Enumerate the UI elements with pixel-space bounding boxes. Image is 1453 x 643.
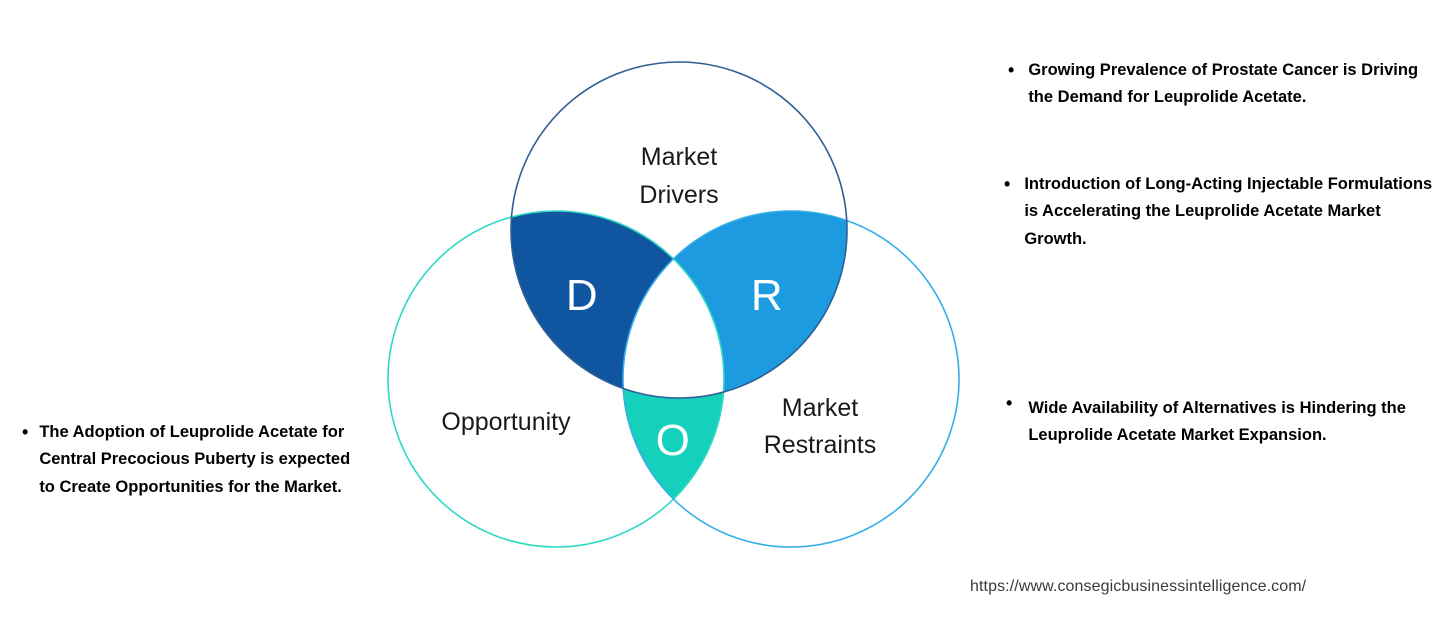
bullet-driver-2-text: Introduction of Long-Acting Injectable F… [1024,171,1434,253]
bullet-driver-2: • Introduction of Long-Acting Injectable… [1004,171,1434,253]
label-market-restraints-line2: Restraints [764,431,877,459]
bullet-opportunity-text: The Adoption of Leuprolide Acetate for C… [39,419,362,501]
bullet-marker-icon: • [1004,171,1010,199]
lens-letter-o: O [656,416,691,465]
bullet-driver-1: • Growing Prevalence of Prostate Cancer … [1008,57,1428,112]
bullet-marker-icon: • [22,419,28,447]
source-url[interactable]: https://www.consegicbusinessintelligence… [970,578,1306,596]
lens-letter-r: R [751,271,783,320]
bullet-marker-icon: • [1006,390,1012,418]
label-market-drivers-line2: Drivers [639,181,718,209]
lens-letter-d: D [566,271,598,320]
label-market-drivers-line1: Market [641,143,717,171]
bullet-marker-icon: • [1008,57,1014,85]
label-opportunity: Opportunity [441,408,571,436]
label-market-restraints-line1: Market [782,394,858,422]
bullet-driver-1-text: Growing Prevalence of Prostate Cancer is… [1028,57,1428,112]
bullet-restraint-1-text: Wide Availability of Alternatives is Hin… [1028,395,1426,450]
bullet-opportunity: • The Adoption of Leuprolide Acetate for… [22,419,362,501]
bullet-restraint-1: • Wide Availability of Alternatives is H… [1006,395,1426,450]
